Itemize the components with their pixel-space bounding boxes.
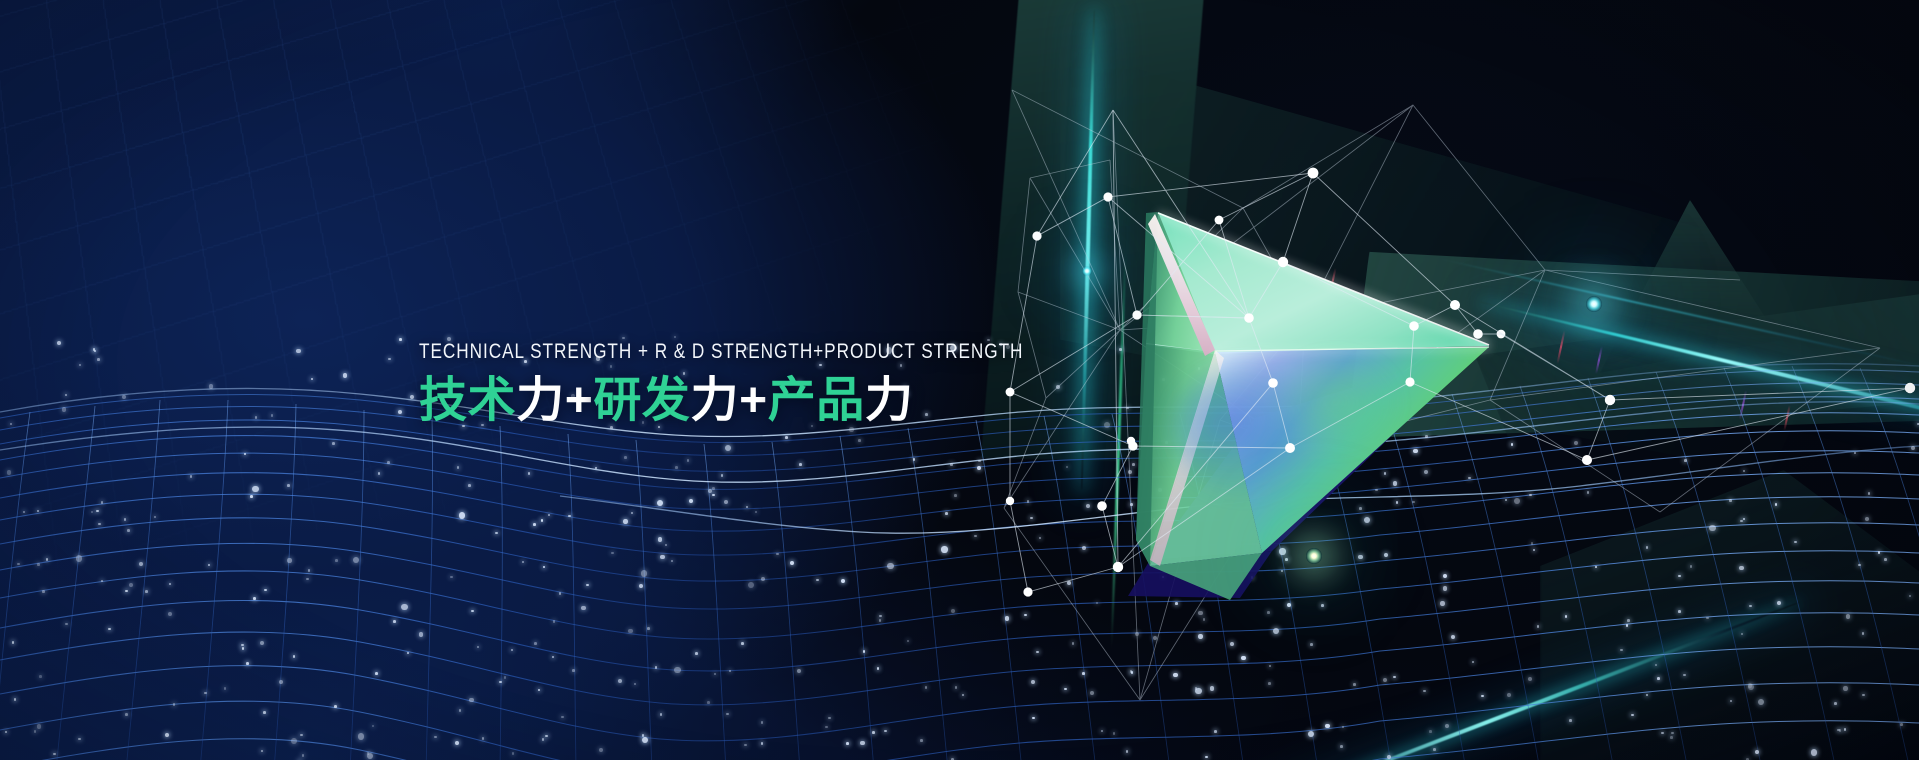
particle-dot bbox=[712, 487, 715, 490]
particle-dot bbox=[263, 711, 266, 714]
particle-dot bbox=[1443, 574, 1447, 578]
particle-dot bbox=[828, 717, 831, 720]
particle-dot bbox=[595, 467, 598, 470]
particle-dot bbox=[1200, 520, 1203, 523]
accent-tick bbox=[1783, 405, 1790, 431]
particle-dot bbox=[721, 474, 724, 477]
particle-dot bbox=[712, 494, 715, 497]
headline-segment-product-li: 力 bbox=[865, 374, 914, 427]
particle-dot bbox=[1440, 601, 1444, 605]
particle-dot bbox=[1900, 723, 1903, 726]
particle-dot bbox=[1537, 625, 1540, 628]
particle-dot bbox=[311, 378, 314, 381]
particle-dot bbox=[1251, 576, 1254, 579]
particle-dot bbox=[1748, 683, 1752, 687]
particle-dot bbox=[1165, 441, 1168, 444]
particle-dot bbox=[7, 470, 11, 474]
particle-dot bbox=[204, 692, 207, 695]
particle-dot bbox=[1064, 688, 1067, 691]
particle-dot bbox=[744, 744, 747, 747]
particle-dot bbox=[1777, 601, 1781, 605]
particle-dot bbox=[1468, 477, 1471, 480]
lens-flare-right bbox=[1586, 296, 1602, 312]
particle-dot bbox=[1203, 618, 1206, 621]
particle-dot bbox=[57, 341, 61, 345]
particle-dot bbox=[353, 557, 359, 563]
particle-dot bbox=[450, 576, 453, 579]
particle-dot bbox=[1626, 624, 1629, 627]
particle-dot bbox=[1909, 595, 1912, 598]
particle-dot bbox=[887, 563, 893, 569]
particle-dot bbox=[1206, 509, 1209, 512]
particle-dot bbox=[5, 731, 8, 734]
lens-flare-bottom bbox=[1306, 548, 1322, 564]
particle-dot bbox=[378, 472, 381, 475]
particle-dot bbox=[1067, 581, 1071, 585]
particle-dot bbox=[1412, 501, 1415, 504]
particle-dot bbox=[1423, 690, 1426, 693]
particle-dot bbox=[241, 644, 244, 647]
particle-dot bbox=[1175, 602, 1178, 605]
particle-dot bbox=[1130, 670, 1133, 673]
particle-dot bbox=[1195, 688, 1201, 694]
particle-dot bbox=[1862, 694, 1865, 697]
headline-main: 技术力+研发力+产品力 bbox=[419, 376, 1175, 427]
particle-dot bbox=[665, 544, 668, 547]
particle-dot bbox=[1393, 481, 1397, 485]
slab-beam bbox=[1286, 150, 1919, 760]
particle-dot bbox=[1162, 576, 1165, 579]
particle-dot bbox=[1884, 558, 1887, 561]
particle-dot bbox=[872, 731, 875, 734]
particle-dot bbox=[242, 647, 245, 650]
particle-dot bbox=[1507, 693, 1511, 697]
particle-dot bbox=[101, 580, 104, 583]
particle-dot bbox=[455, 741, 459, 745]
particle-dot bbox=[846, 742, 849, 745]
particle-dot bbox=[37, 563, 40, 566]
particle-dot bbox=[477, 646, 480, 649]
particle-dot bbox=[1684, 459, 1687, 462]
headline-segment-tech: 技术 bbox=[419, 374, 516, 427]
particle-dot bbox=[1315, 487, 1318, 490]
particle-dot bbox=[1690, 565, 1693, 568]
particle-dot bbox=[1036, 651, 1039, 654]
particle-dot bbox=[1627, 619, 1630, 622]
particle-dot bbox=[1844, 728, 1847, 731]
particle-dot bbox=[1098, 506, 1101, 509]
particle-dot bbox=[879, 619, 882, 622]
particle-dot bbox=[955, 686, 958, 689]
particle-dot bbox=[296, 349, 300, 353]
particle-dot bbox=[1027, 500, 1030, 503]
particle-dot bbox=[1655, 664, 1658, 667]
particle-dot bbox=[1433, 748, 1436, 751]
particle-dot bbox=[776, 553, 779, 556]
particle-dot bbox=[154, 516, 157, 519]
particle-dot bbox=[628, 629, 632, 633]
particle-dot bbox=[367, 752, 370, 755]
particle-dot bbox=[618, 679, 622, 683]
particle-dot bbox=[611, 552, 614, 555]
particle-dot bbox=[1300, 489, 1303, 492]
particle-dot bbox=[634, 683, 637, 686]
particle-dot bbox=[816, 579, 819, 582]
particle-dot bbox=[1342, 726, 1345, 729]
particle-dot bbox=[504, 676, 507, 679]
particle-dot bbox=[1839, 729, 1842, 732]
particle-dot bbox=[689, 499, 693, 503]
particle-dot bbox=[165, 733, 169, 737]
particle-dot bbox=[1505, 499, 1508, 502]
particle-dot bbox=[401, 604, 407, 610]
particle-dot bbox=[306, 578, 309, 581]
particle-dot bbox=[1158, 488, 1162, 492]
particle-dot bbox=[1281, 570, 1284, 573]
particle-dot bbox=[581, 606, 585, 610]
particle-dot bbox=[302, 754, 305, 757]
particle-dot bbox=[419, 632, 423, 636]
particle-dot bbox=[825, 726, 828, 729]
particle-dot bbox=[358, 733, 364, 739]
light-streak-diagonal-thin bbox=[1440, 258, 1919, 373]
particle-dot bbox=[271, 414, 274, 417]
particle-dot bbox=[482, 737, 485, 740]
particle-dot bbox=[37, 510, 40, 513]
particle-dot bbox=[91, 511, 94, 514]
particle-dot bbox=[468, 484, 471, 487]
particle-dot bbox=[1132, 463, 1135, 466]
headline-kicker: TECHNICAL STRENGTH + R & D STRENGTH+PROD… bbox=[419, 341, 1023, 363]
headline-plus-1: + bbox=[565, 374, 594, 427]
particle-dot bbox=[190, 475, 193, 478]
particle-dot bbox=[671, 560, 674, 563]
particle-dot bbox=[1359, 507, 1362, 510]
particle-dot bbox=[799, 463, 802, 466]
particle-dot bbox=[863, 650, 866, 653]
particle-dot bbox=[1072, 642, 1075, 645]
particle-dot bbox=[658, 537, 662, 541]
particle-dot bbox=[97, 358, 100, 361]
particle-dot bbox=[1794, 541, 1797, 544]
particle-dot bbox=[675, 466, 678, 469]
particle-dot bbox=[954, 494, 957, 497]
particle-dot bbox=[1086, 504, 1090, 508]
particle-dot bbox=[790, 561, 794, 565]
particle-dot bbox=[1748, 684, 1754, 690]
particle-dot bbox=[920, 739, 923, 742]
headline-segment-rd: 研发 bbox=[593, 374, 690, 427]
particle-dot bbox=[10, 423, 13, 426]
particle-dot bbox=[674, 336, 677, 339]
particle-dot bbox=[945, 512, 948, 515]
particle-dot bbox=[1031, 680, 1035, 684]
lens-flare-top bbox=[1082, 266, 1092, 276]
particle-dot bbox=[708, 489, 712, 493]
particle-dot bbox=[1706, 617, 1709, 620]
particle-dot bbox=[1198, 367, 1201, 370]
particle-dot bbox=[1878, 551, 1881, 554]
particle-dot bbox=[1429, 730, 1432, 733]
particle-dot bbox=[1683, 674, 1686, 677]
particle-dot bbox=[1237, 505, 1240, 508]
particle-dot bbox=[343, 373, 347, 377]
particle-dot bbox=[1290, 492, 1293, 495]
particle-dot bbox=[469, 698, 473, 702]
slab-beam-secondary bbox=[1475, 153, 1919, 726]
particle-dot bbox=[841, 579, 845, 583]
particle-dot bbox=[471, 610, 474, 613]
particle-dot bbox=[334, 705, 337, 708]
particle-dot bbox=[951, 609, 955, 613]
particle-dot bbox=[1387, 755, 1391, 759]
particle-dot bbox=[1285, 558, 1288, 561]
particle-dot bbox=[761, 742, 764, 745]
particle-dot bbox=[797, 669, 801, 673]
particle-dot bbox=[410, 395, 414, 399]
light-streak-green bbox=[1110, 250, 1127, 650]
particle-dot bbox=[674, 667, 680, 673]
particle-dot bbox=[1153, 518, 1156, 521]
particle-dot bbox=[534, 642, 537, 645]
accent-tick bbox=[1330, 268, 1337, 292]
particle-dot bbox=[657, 500, 663, 506]
particle-dot bbox=[65, 394, 68, 397]
particle-dot bbox=[145, 590, 148, 593]
particle-dot bbox=[1158, 557, 1161, 560]
particle-dot bbox=[599, 748, 603, 752]
particle-dot bbox=[572, 669, 575, 672]
particle-dot bbox=[1472, 661, 1475, 664]
particle-dot bbox=[545, 735, 548, 738]
particle-dot bbox=[974, 535, 977, 538]
particle-dot bbox=[23, 511, 26, 514]
particle-dot bbox=[528, 472, 531, 475]
particle-dot bbox=[62, 407, 66, 411]
particle-dot bbox=[1646, 694, 1649, 697]
particle-dot bbox=[1279, 548, 1285, 554]
particle-dot bbox=[253, 597, 256, 600]
particle-dot bbox=[388, 358, 391, 361]
particle-dot bbox=[1529, 494, 1532, 497]
particle-dot bbox=[499, 681, 502, 684]
background-grid-pattern bbox=[0, 0, 1246, 606]
particle-dot bbox=[907, 640, 910, 643]
particle-dot bbox=[208, 564, 211, 567]
particle-dot bbox=[858, 439, 861, 442]
particle-dot bbox=[1739, 566, 1743, 570]
headline-plus-2: + bbox=[739, 374, 768, 427]
particle-dot bbox=[548, 514, 551, 517]
particle-dot bbox=[434, 736, 437, 739]
particle-dot bbox=[127, 529, 130, 532]
particle-dot bbox=[1528, 677, 1532, 681]
particle-dot bbox=[1383, 678, 1387, 682]
particle-dot bbox=[1150, 543, 1153, 546]
particle-dot bbox=[1396, 501, 1399, 504]
particle-dot bbox=[1846, 614, 1850, 618]
particle-dot bbox=[849, 427, 853, 431]
particle-dot bbox=[14, 698, 17, 701]
particle-dot bbox=[1126, 750, 1129, 753]
particle-dot bbox=[1481, 695, 1484, 698]
particle-dot bbox=[1101, 730, 1104, 733]
particle-dot bbox=[1646, 546, 1649, 549]
particle-dot bbox=[1310, 643, 1313, 646]
particle-dot bbox=[642, 734, 645, 737]
particle-dot bbox=[1210, 686, 1214, 690]
particle-dot bbox=[1241, 656, 1245, 660]
particle-dot bbox=[393, 620, 396, 623]
particle-dot bbox=[860, 741, 864, 745]
particle-dot bbox=[53, 753, 56, 756]
particle-dot bbox=[224, 687, 227, 690]
particle-dot bbox=[647, 627, 650, 630]
particle-dot bbox=[1384, 472, 1387, 475]
particle-dot bbox=[260, 641, 264, 645]
particle-dot bbox=[623, 519, 627, 523]
particle-dot bbox=[387, 461, 390, 464]
accent-tick bbox=[1739, 390, 1747, 420]
particle-dot bbox=[1729, 499, 1732, 502]
particle-dot bbox=[925, 686, 928, 689]
particle-dot bbox=[1131, 671, 1134, 674]
particle-dot bbox=[1755, 750, 1759, 754]
particle-dot bbox=[332, 442, 335, 445]
particle-dot bbox=[1287, 603, 1291, 607]
particle-dot bbox=[512, 752, 515, 755]
accent-tick bbox=[1595, 346, 1603, 374]
particle-dot bbox=[1195, 687, 1198, 690]
particle-dot bbox=[1005, 616, 1009, 620]
particle-dot bbox=[1082, 672, 1085, 675]
particle-dot bbox=[725, 445, 731, 451]
particle-dot bbox=[655, 666, 658, 669]
particle-dot bbox=[1198, 634, 1202, 638]
particle-dot bbox=[1153, 636, 1157, 640]
particle-dot bbox=[1066, 466, 1069, 469]
particle-dot bbox=[1533, 549, 1536, 552]
particle-dot bbox=[568, 515, 571, 518]
particle-dot bbox=[552, 656, 555, 659]
particle-dot bbox=[1284, 510, 1288, 514]
particle-dot bbox=[1709, 525, 1715, 531]
particle-dot bbox=[1321, 604, 1324, 607]
particle-dot bbox=[913, 458, 916, 461]
particle-dot bbox=[122, 395, 126, 399]
particle-dot bbox=[139, 562, 143, 566]
particle-dot bbox=[1749, 605, 1752, 608]
particle-dot bbox=[250, 495, 253, 498]
particle-dot bbox=[367, 753, 373, 759]
particle-dot bbox=[264, 589, 267, 592]
particle-dot bbox=[1868, 492, 1871, 495]
particle-dot bbox=[1443, 586, 1447, 590]
particle-dot bbox=[1173, 673, 1177, 677]
particle-dot bbox=[1775, 503, 1778, 506]
particle-dot bbox=[724, 500, 728, 504]
particle-dot bbox=[1574, 441, 1578, 445]
particle-dot bbox=[1090, 691, 1094, 695]
particle-dot bbox=[125, 590, 128, 593]
particle-dot bbox=[1030, 517, 1033, 520]
particle-dot bbox=[1214, 730, 1217, 733]
particle-dot bbox=[1340, 745, 1343, 748]
particle-dot bbox=[1173, 527, 1176, 530]
particle-dot bbox=[1758, 699, 1764, 705]
particle-dot bbox=[459, 512, 465, 518]
particle-dot bbox=[1511, 443, 1514, 446]
particle-dot bbox=[308, 569, 311, 572]
particle-dot bbox=[641, 570, 647, 576]
particle-dot bbox=[642, 737, 648, 743]
particle-dot bbox=[39, 675, 42, 678]
particle-dot bbox=[1128, 470, 1132, 474]
particle-dot bbox=[639, 584, 643, 588]
particle-dot bbox=[96, 510, 99, 513]
particle-dot bbox=[1678, 575, 1681, 578]
particle-dot bbox=[1834, 702, 1837, 705]
particle-dot bbox=[1024, 614, 1027, 617]
slab-spike bbox=[1600, 200, 1780, 380]
particle-dot bbox=[399, 338, 402, 341]
particle-dot bbox=[1569, 719, 1572, 722]
particle-dot bbox=[1413, 449, 1417, 453]
particle-dot bbox=[1267, 611, 1270, 614]
particle-dot bbox=[1854, 452, 1857, 455]
particle-dot bbox=[1811, 749, 1817, 755]
particle-dot bbox=[17, 563, 20, 566]
particle-dot bbox=[1595, 566, 1598, 569]
particle-dot bbox=[1393, 676, 1396, 679]
particle-dot bbox=[287, 558, 291, 562]
particle-dot bbox=[101, 501, 104, 504]
headline-segment-product: 产品 bbox=[768, 374, 865, 427]
particle-dot bbox=[93, 348, 96, 351]
particle-dot bbox=[1196, 529, 1199, 532]
particle-dot bbox=[941, 546, 947, 552]
particle-dot bbox=[761, 577, 765, 581]
particle-dot bbox=[624, 456, 627, 459]
particle-dot bbox=[726, 713, 729, 716]
particle-dot bbox=[950, 463, 953, 466]
particle-dot bbox=[169, 583, 172, 586]
particle-dot bbox=[1113, 732, 1116, 735]
particle-dot bbox=[1205, 756, 1208, 759]
particle-dot bbox=[42, 590, 45, 593]
particle-dot bbox=[1661, 732, 1664, 735]
light-streak-diagonal-left bbox=[1220, 600, 1800, 760]
particle-dot bbox=[785, 436, 788, 439]
particle-dot bbox=[291, 738, 297, 744]
particle-dot bbox=[533, 523, 536, 526]
particle-dot bbox=[37, 724, 41, 728]
particle-dot bbox=[1096, 602, 1099, 605]
particle-dot bbox=[1531, 542, 1534, 545]
particle-dot bbox=[46, 558, 49, 561]
particle-dot bbox=[1269, 665, 1272, 668]
particle-dot bbox=[1039, 537, 1042, 540]
particle-dot bbox=[1273, 628, 1279, 634]
particle-dot bbox=[553, 620, 556, 623]
particle-dot bbox=[1198, 611, 1202, 615]
particle-dot bbox=[1911, 446, 1915, 450]
particle-dot bbox=[538, 689, 541, 692]
particle-dot bbox=[372, 725, 375, 728]
particle-dot bbox=[1620, 649, 1623, 652]
particle-dot bbox=[34, 730, 37, 733]
particle-dot bbox=[1858, 564, 1861, 567]
